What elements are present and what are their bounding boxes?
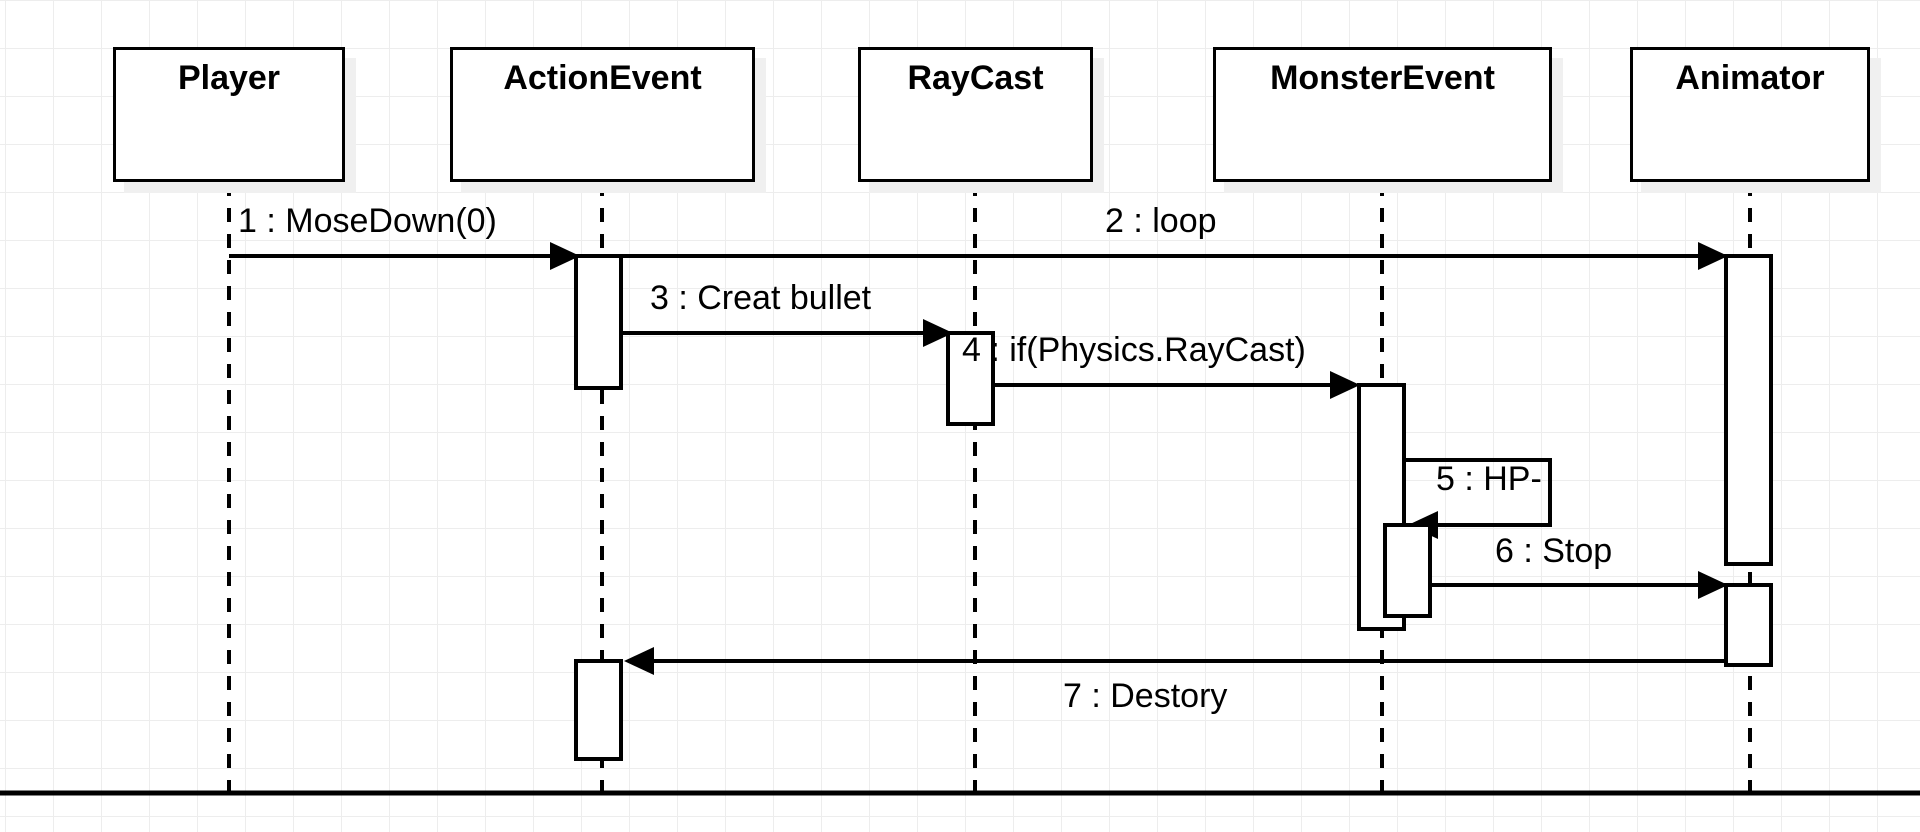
- message-4: [993, 371, 1360, 399]
- arrowhead: [1698, 571, 1728, 599]
- message-label-5: 5 : HP-: [1436, 462, 1542, 496]
- message-label-1: 1 : MoseDown(0): [238, 204, 497, 238]
- activation-bar-monster-act-inner: [1385, 525, 1430, 616]
- lifeline-label-raycast: RayCast: [907, 59, 1043, 98]
- lifeline-box-actionevent[interactable]: ActionEvent: [450, 47, 755, 182]
- lifeline-box-player[interactable]: Player: [113, 47, 345, 182]
- activation-bar-actionevent-act-2: [576, 661, 621, 759]
- arrowhead: [1698, 242, 1728, 270]
- message-3: [621, 319, 953, 347]
- arrowhead: [1330, 371, 1360, 399]
- message-6: [1430, 571, 1728, 599]
- lifeline-label-actionevent: ActionEvent: [503, 59, 701, 98]
- arrowhead: [624, 647, 654, 675]
- lifeline-box-raycast[interactable]: RayCast: [858, 47, 1093, 182]
- activation-bar-actionevent-act-1: [576, 256, 621, 388]
- lifeline-label-player: Player: [178, 59, 280, 98]
- lifeline-label-animator: Animator: [1675, 59, 1824, 98]
- activation-bar-animator-act-1: [1726, 256, 1771, 564]
- lifeline-box-animator[interactable]: Animator: [1630, 47, 1870, 182]
- sequence-diagram-canvas: PlayerActionEventRayCastMonsterEventAnim…: [0, 0, 1920, 832]
- message-arrows: [229, 242, 1728, 675]
- lifeline-box-monsterevent[interactable]: MonsterEvent: [1213, 47, 1552, 182]
- message-label-2: 2 : loop: [1105, 204, 1217, 238]
- message-2: [229, 242, 1728, 270]
- message-label-6: 6 : Stop: [1495, 534, 1612, 568]
- lifeline-label-monsterevent: MonsterEvent: [1270, 59, 1495, 98]
- message-label-4: 4 : if(Physics.RayCast): [962, 333, 1306, 367]
- message-7: [624, 647, 1728, 675]
- message-label-7: 7 : Destory: [1063, 679, 1227, 713]
- activation-bar-animator-act-2: [1726, 585, 1771, 665]
- message-label-3: 3 : Creat bullet: [650, 281, 871, 315]
